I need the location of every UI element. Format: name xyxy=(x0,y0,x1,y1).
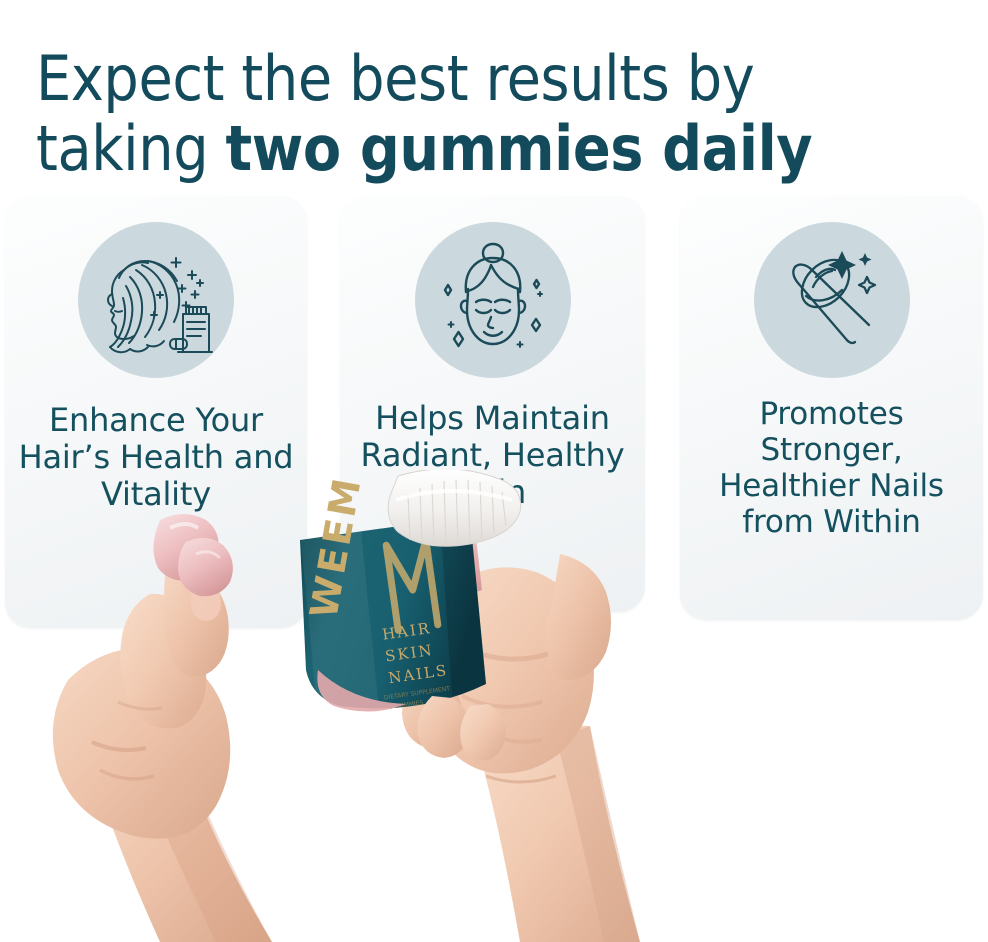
left-hand xyxy=(53,514,272,942)
strong-nail-icon xyxy=(754,222,910,378)
bottle-cap xyxy=(388,470,520,546)
headline-line-2: taking two gummies daily xyxy=(36,114,956,184)
infographic-page: Expect the best results by taking two gu… xyxy=(0,0,988,942)
radiant-skin-face-icon xyxy=(415,222,571,378)
product-photo: WEEM HAIR SKIN NAILS DIETARY SUPPLEMENT … xyxy=(0,470,988,942)
page-title: Expect the best results by taking two gu… xyxy=(36,44,956,184)
headline-line-2-plain: taking xyxy=(36,112,226,185)
headline-line-1: Expect the best results by xyxy=(36,44,956,114)
headline-emphasis: two gummies daily xyxy=(226,112,813,185)
hands-with-bottle-illustration: WEEM HAIR SKIN NAILS DIETARY SUPPLEMENT … xyxy=(0,470,988,942)
hair-vitality-icon xyxy=(78,222,234,378)
